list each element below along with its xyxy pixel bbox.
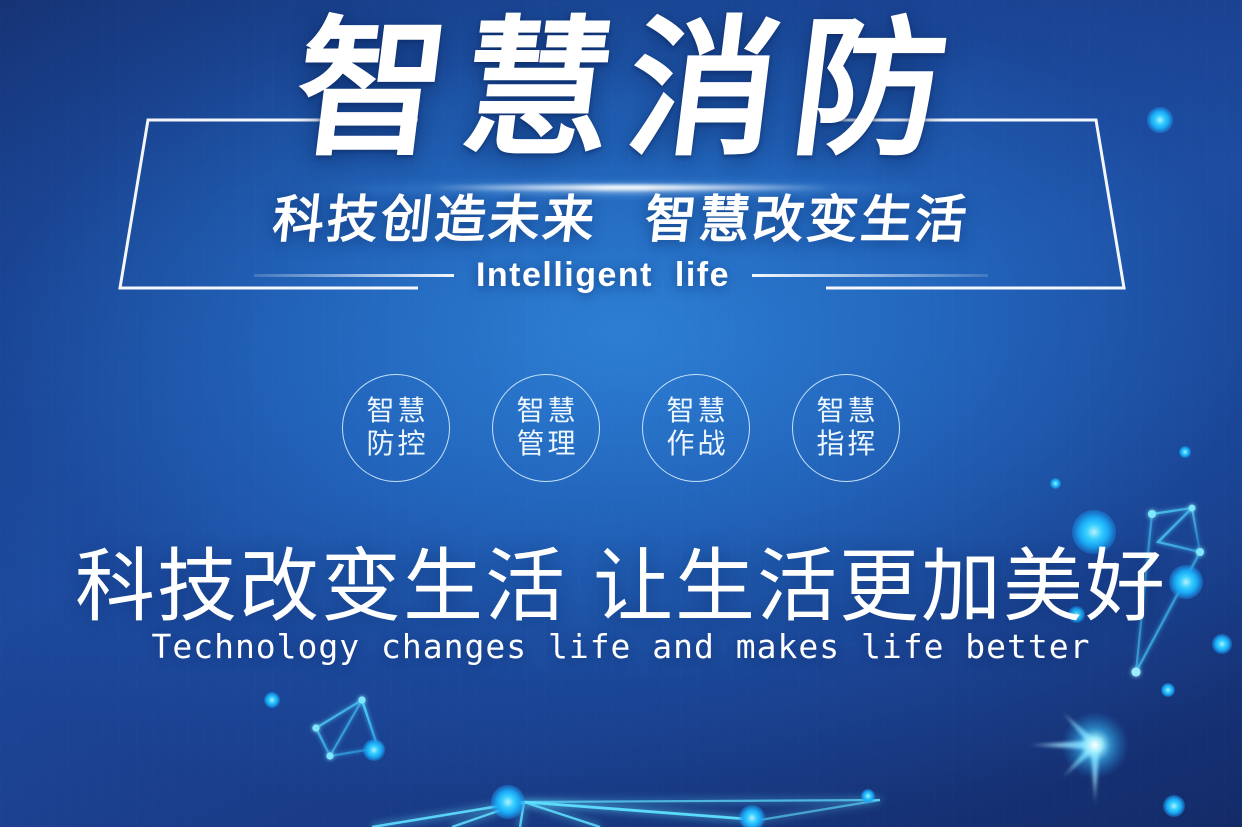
sub-title-right: 智慧改变生活 — [642, 191, 972, 248]
sub-title: 科技创造未来智慧改变生活 — [0, 192, 1242, 248]
circle-line-2: 防控 — [363, 429, 428, 460]
sub-title-left: 科技创造未来 — [270, 191, 600, 248]
glow-dot — [1161, 683, 1175, 697]
slogan-cn-left: 科技改变生活 — [75, 542, 567, 631]
feature-circle-fangkong[interactable]: 智慧 防控 — [342, 374, 450, 482]
slogan-chinese: 科技改变生活让生活更加美好 — [0, 545, 1242, 629]
glow-dot — [861, 789, 875, 803]
constellation-left — [312, 696, 381, 759]
english-tagline-row: Intelligent life — [0, 256, 1242, 295]
feature-circles: 智慧 防控 智慧 管理 智慧 作战 智慧 指挥 — [0, 374, 1242, 482]
glow-dot — [1163, 795, 1185, 817]
title-block: 智慧消防 — [0, 8, 1242, 170]
circle-line-1: 智慧 — [363, 396, 428, 427]
glow-dot — [491, 785, 525, 819]
glow-dot — [264, 692, 280, 708]
english-tagline: Intelligent life — [476, 256, 730, 295]
glow-dot — [739, 805, 765, 827]
constellation-hub — [372, 800, 880, 827]
circle-line-2: 作战 — [663, 429, 728, 460]
tagline-rule-left — [254, 274, 454, 277]
circle-line-1: 智慧 — [513, 396, 578, 427]
feature-circle-zuozhan[interactable]: 智慧 作战 — [642, 374, 750, 482]
main-title: 智慧消防 — [0, 8, 1242, 170]
tagline-rule-right — [752, 274, 988, 277]
glow-dot — [363, 739, 385, 761]
starburst-icon — [1015, 665, 1175, 825]
poster-root: 智慧消防 科技创造未来智慧改变生活 Intelligent life 智慧 防控… — [0, 0, 1242, 827]
circle-line-1: 智慧 — [663, 396, 728, 427]
feature-circle-zhihui[interactable]: 智慧 指挥 — [792, 374, 900, 482]
circle-line-2: 指挥 — [813, 429, 878, 460]
feature-circle-guanli[interactable]: 智慧 管理 — [492, 374, 600, 482]
circle-line-2: 管理 — [513, 429, 578, 460]
title-light-streak-core — [430, 185, 830, 190]
slogan-english: Technology changes life and makes life b… — [0, 627, 1242, 666]
circle-line-1: 智慧 — [813, 396, 878, 427]
slogan-cn-right: 让生活更加美好 — [593, 542, 1167, 631]
